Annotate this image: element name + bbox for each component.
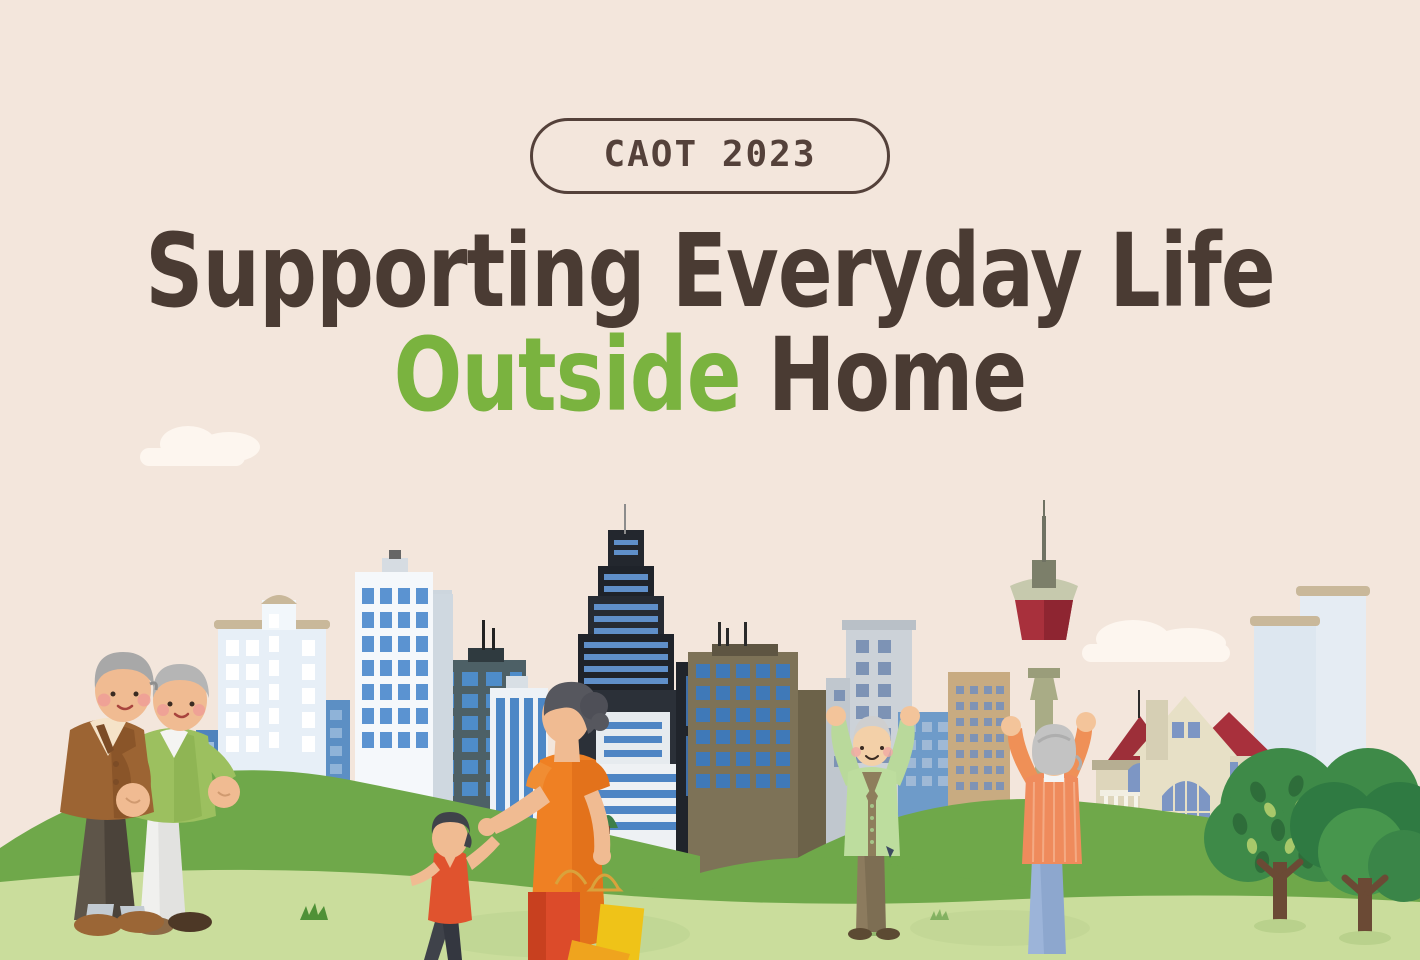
- headline-word-outside: Outside: [394, 316, 741, 435]
- event-badge: CAOT 2023: [530, 118, 889, 194]
- headline-line-2: Outside Home: [85, 326, 1335, 426]
- title-block: CAOT 2023 Supporting Everyday Life Outsi…: [0, 118, 1420, 426]
- poster-root: CAOT 2023 Supporting Everyday Life Outsi…: [0, 0, 1420, 960]
- headline-word-home: Home: [768, 316, 1026, 435]
- headline-line-1: Supporting Everyday Life: [85, 222, 1335, 322]
